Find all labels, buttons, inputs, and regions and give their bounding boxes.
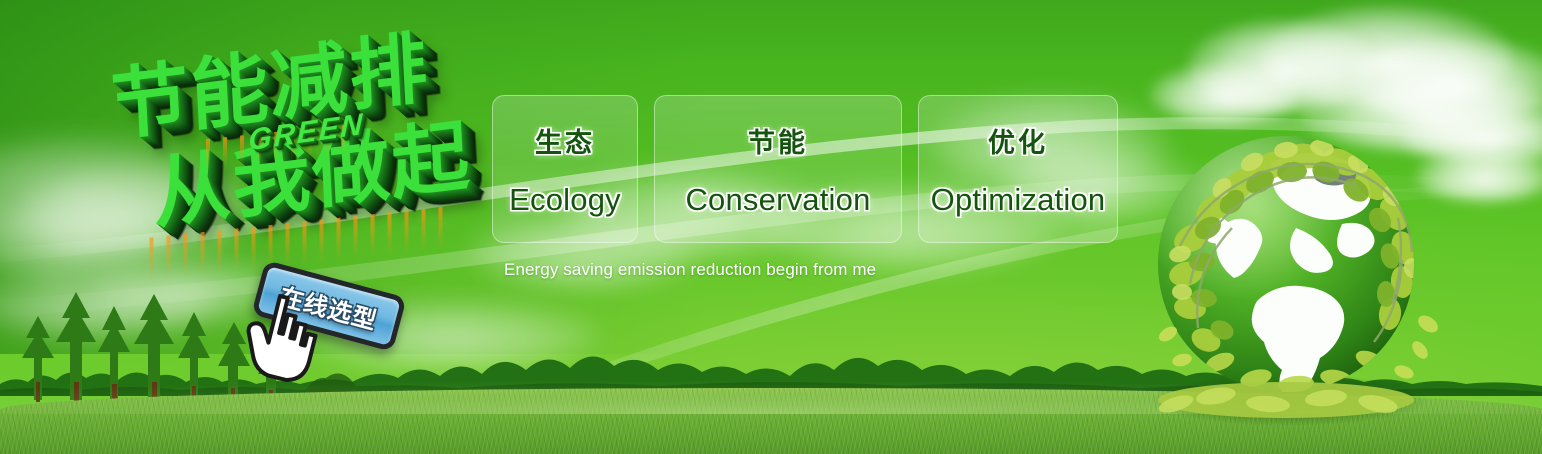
green-promo-banner: 节能减排 GREEN 从我做起 在线选型 生态 Ecology 节能 Conse… [0,0,1542,454]
feature-card-list: 生态 Ecology 节能 Conservation 优化 Optimizati… [492,95,1118,243]
feature-card-title-en: Optimization [931,182,1106,218]
feature-card-title-en: Conservation [685,182,870,218]
feature-card-title-cn: 节能 [748,121,808,160]
feature-card-optimization[interactable]: 优化 Optimization [918,95,1118,243]
cta-area[interactable]: 在线选型 [256,278,426,356]
feature-card-title-cn: 生态 [535,121,595,160]
leafy-earth-globe-icon [1146,128,1442,428]
headline-3d-art: 节能减排 GREEN 从我做起 [100,36,490,266]
feature-card-ecology[interactable]: 生态 Ecology [492,95,638,243]
feature-card-title-en: Ecology [509,182,621,218]
cta-label: 在线选型 [276,276,382,336]
feature-card-conservation[interactable]: 节能 Conservation [654,95,902,243]
banner-tagline: Energy saving emission reduction begin f… [504,260,876,280]
feature-card-title-cn: 优化 [988,121,1048,160]
